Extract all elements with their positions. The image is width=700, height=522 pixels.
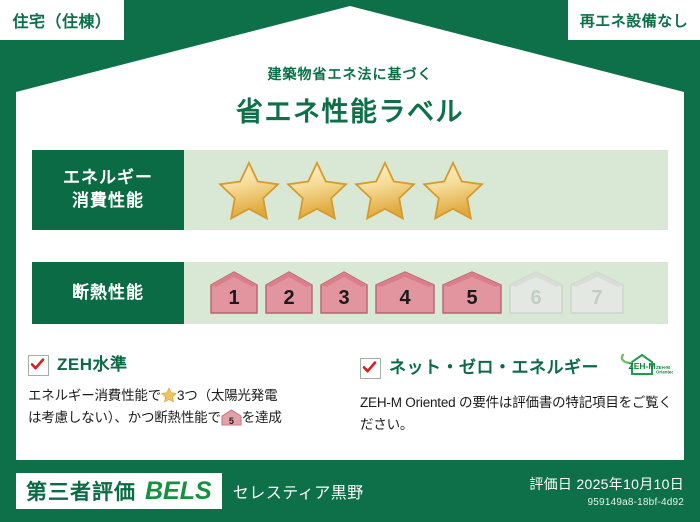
- criteria-zeh-title: ZEH水準: [57, 352, 128, 378]
- building-name: セレスティア黒野: [233, 479, 364, 503]
- star-icon: [218, 159, 280, 221]
- tag-renewable-energy: 再エネ設備なし: [568, 0, 700, 40]
- insulation-level-house: 5: [440, 270, 504, 316]
- zeh-m-oriented-logo-icon: ZEH-M ZEH-M Oriented: [611, 352, 673, 385]
- bels-badge: 第三者評価 BELS: [16, 473, 222, 509]
- energy-performance-label: 住宅（住棟） 再エネ設備なし 建築物省エネ法に基づく 省エネ性能ラベル エネルギ…: [0, 0, 700, 522]
- insulation-level-number: 4: [373, 287, 437, 310]
- criteria-zeh-header: ZEH水準: [28, 352, 340, 378]
- insulation-level-house: 1: [208, 270, 260, 316]
- insulation-level-house: 3: [318, 270, 370, 316]
- bels-badge-ja: 第三者評価: [26, 476, 136, 506]
- bels-badge-en: BELS: [145, 477, 212, 506]
- insulation-level-number: 6: [507, 287, 565, 310]
- criteria-nze-header: ネット・ゼロ・エネルギー ZEH-M ZEH-M Oriented: [360, 352, 680, 385]
- insulation-performance-label-line1: 断熱性能: [72, 282, 144, 305]
- label-title: 省エネ性能ラベル: [0, 90, 700, 129]
- criteria-zeh-text-3: は考慮しない）、かつ断熱性能で: [28, 410, 221, 425]
- insulation-level-number: 3: [318, 287, 370, 310]
- inline-star-icon: [161, 387, 177, 403]
- star-rating: [218, 159, 484, 221]
- label-header: 建築物省エネ法に基づく 省エネ性能ラベル: [0, 64, 700, 129]
- star-icon: [286, 159, 348, 221]
- insulation-level-house: 6: [507, 270, 565, 316]
- tag-building-type: 住宅（住棟）: [0, 0, 124, 40]
- checkbox-nze-icon: [360, 358, 381, 379]
- tag-building-type-label: 住宅（住棟）: [12, 8, 111, 32]
- insulation-level-house: 4: [373, 270, 437, 316]
- criteria-zeh-standard: ZEH水準 エネルギー消費性能で 3つ（太陽光発電 は考慮しない）、かつ断熱性能…: [28, 352, 340, 429]
- inline-house-badge-number: 5: [221, 417, 242, 426]
- insulation-level-number: 2: [263, 287, 315, 310]
- insulation-level-house: 2: [263, 270, 315, 316]
- insulation-level-house: 7: [568, 270, 626, 316]
- star-icon: [422, 159, 484, 221]
- checkbox-zeh-icon: [28, 355, 49, 376]
- star-icon: [354, 159, 416, 221]
- insulation-level-number: 1: [208, 287, 260, 310]
- insulation-performance-key: 断熱性能: [32, 262, 184, 324]
- insulation-level-scale: 1234567: [208, 270, 626, 316]
- energy-performance-value: [184, 150, 668, 230]
- criteria-net-zero-energy: ネット・ゼロ・エネルギー ZEH-M ZEH-M Oriented ZEH-M …: [360, 352, 680, 436]
- energy-performance-label-line1: エネルギー: [63, 167, 153, 190]
- inline-house-badge-icon: 5: [221, 409, 242, 426]
- criteria-zeh-text-2: 3つ（太陽光発電: [177, 388, 277, 403]
- insulation-level-number: 5: [440, 287, 504, 310]
- insulation-performance-value: 1234567: [184, 262, 668, 324]
- svg-text:Oriented: Oriented: [656, 370, 673, 375]
- label-footer: 第三者評価 BELS セレスティア黒野 評価日 2025年10月10日 9591…: [0, 460, 700, 522]
- energy-performance-key: エネルギー 消費性能: [32, 150, 184, 230]
- criteria-zeh-text-1: エネルギー消費性能で: [28, 388, 161, 403]
- evaluation-id: 959149a8-18bf-4d92: [529, 497, 684, 508]
- criteria-nze-body: ZEH-M Oriented の要件は評価書の特記項目をご覧ください。: [360, 392, 680, 436]
- energy-performance-label-line2: 消費性能: [72, 190, 144, 213]
- criteria-zeh-body: エネルギー消費性能で 3つ（太陽光発電 は考慮しない）、かつ断熱性能で 5 を達…: [28, 385, 340, 429]
- row-energy-performance: エネルギー 消費性能: [32, 150, 668, 230]
- criteria-nze-title: ネット・ゼロ・エネルギー: [389, 355, 599, 381]
- insulation-level-number: 7: [568, 287, 626, 310]
- svg-text:ZEH-M: ZEH-M: [629, 361, 656, 371]
- tag-renewable-energy-label: 再エネ設備なし: [580, 10, 689, 31]
- criteria-zeh-text-4: を達成: [242, 410, 282, 425]
- evaluation-info: 評価日 2025年10月10日 959149a8-18bf-4d92: [529, 474, 684, 508]
- label-subtitle: 建築物省エネ法に基づく: [0, 64, 700, 84]
- evaluation-date: 評価日 2025年10月10日: [529, 474, 684, 494]
- row-insulation-performance: 断熱性能 1234567: [32, 262, 668, 324]
